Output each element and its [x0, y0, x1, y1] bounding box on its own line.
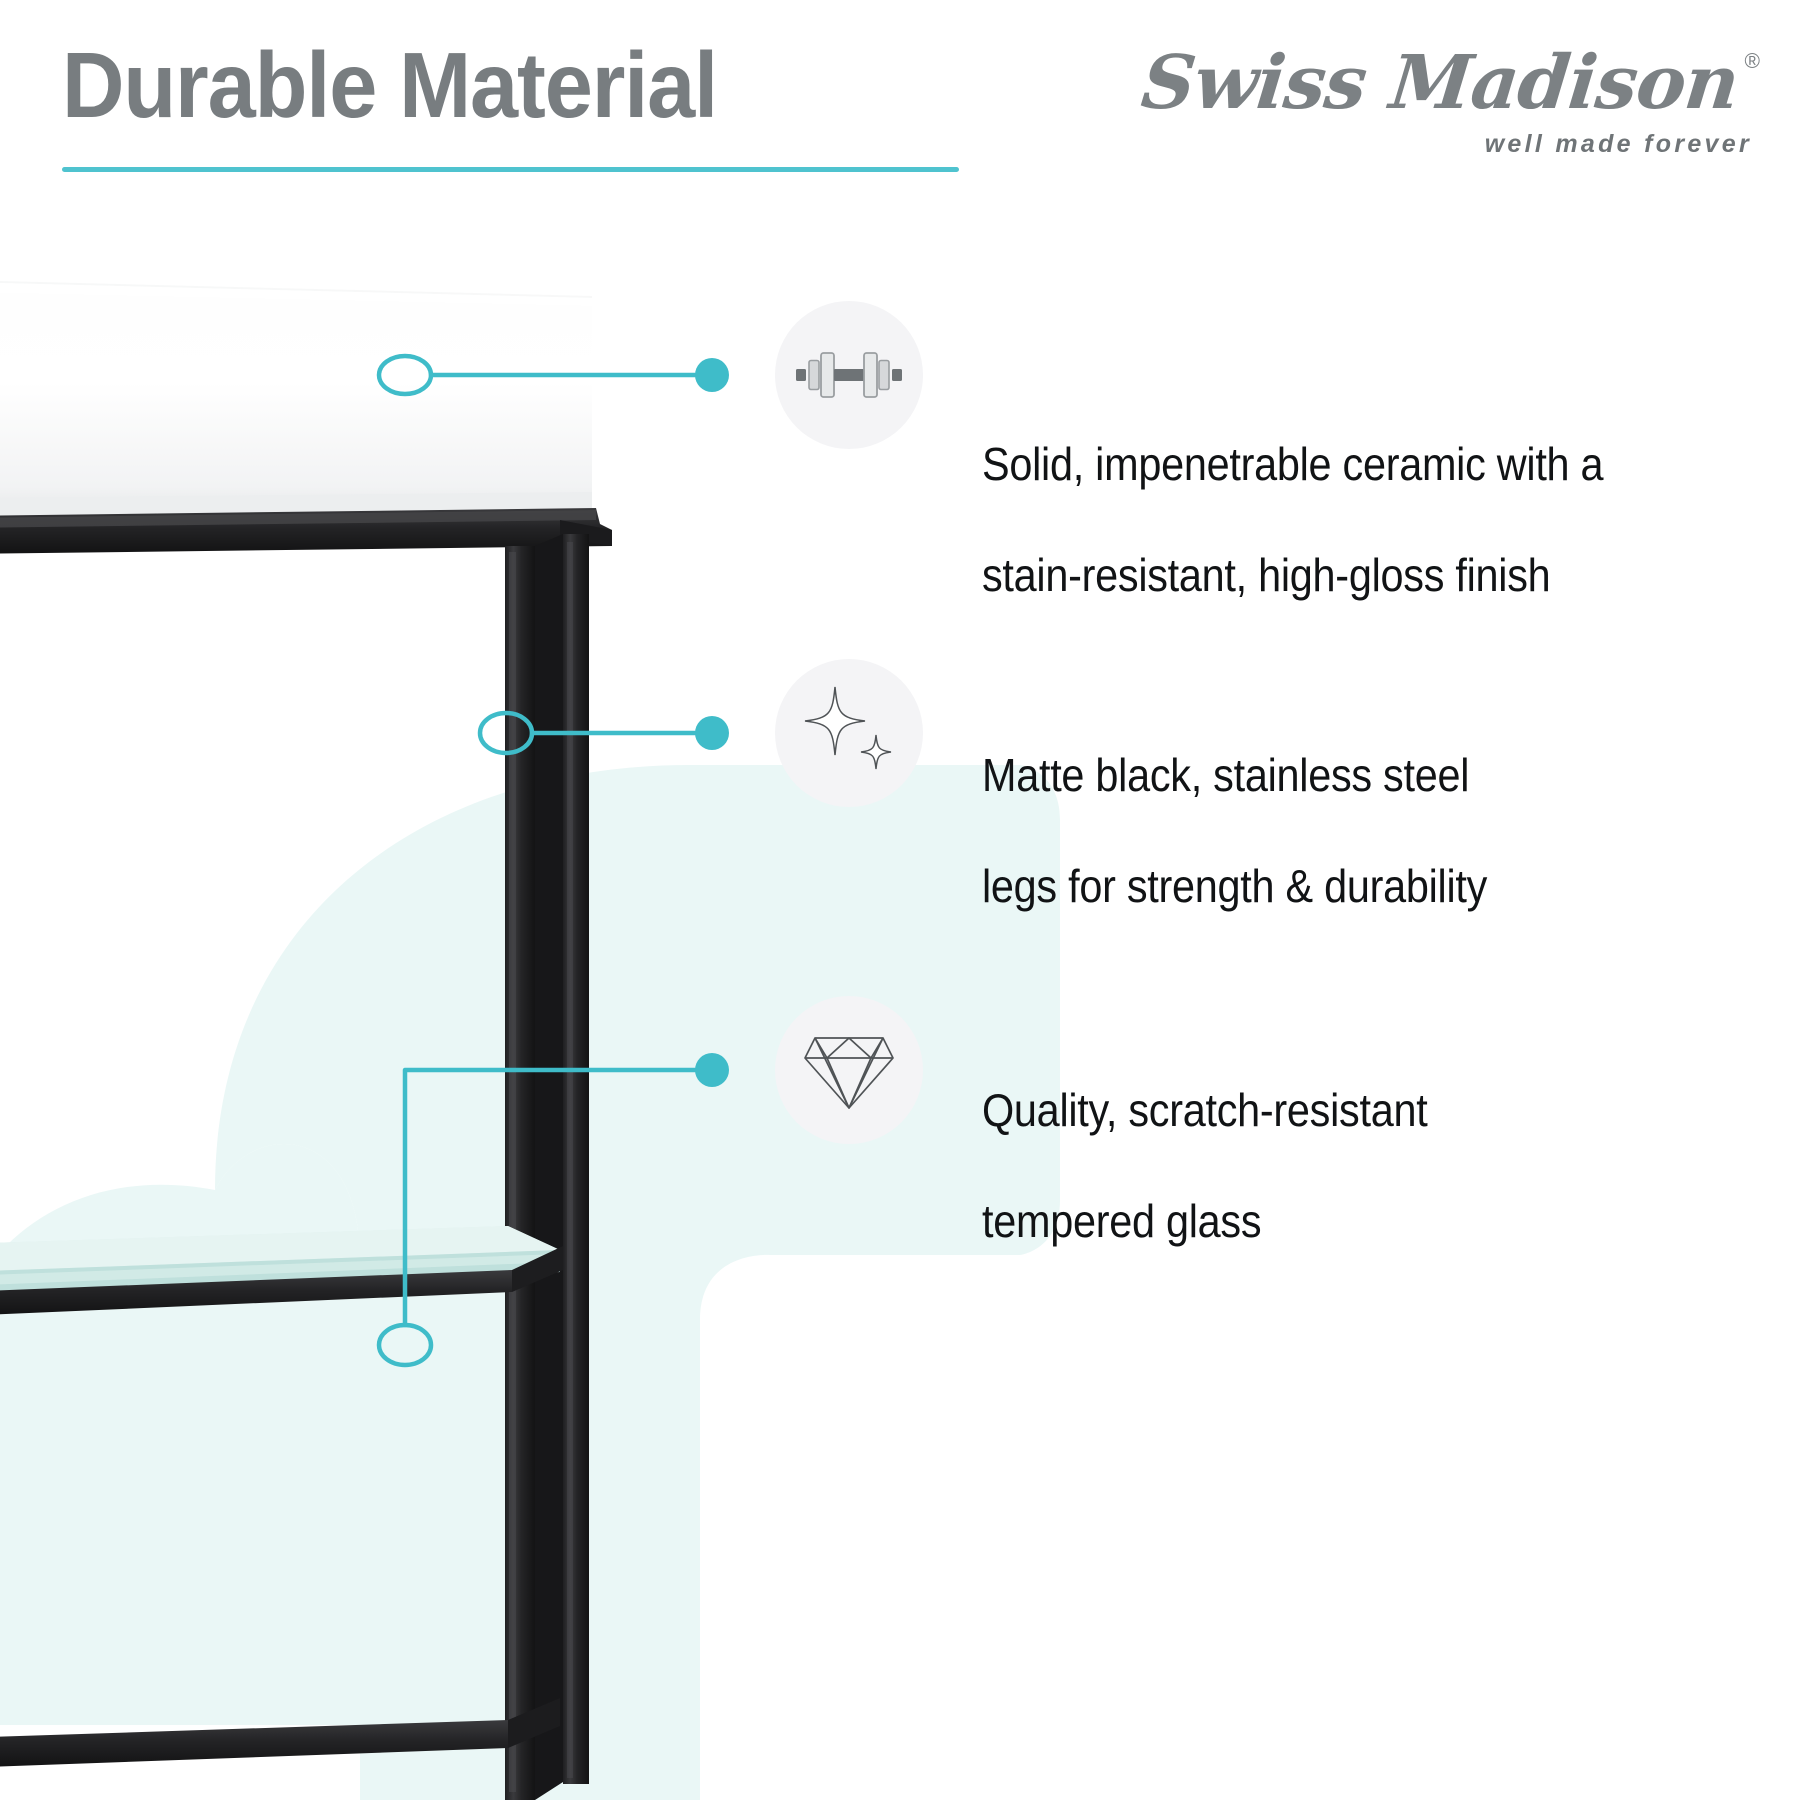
brand-logo-wordmark: Swiss Madison [1138, 46, 1742, 120]
feature-text-legs-line1: Matte black, stainless steel [982, 748, 1800, 803]
brand-logo: Swiss Madison ® well made forever [1234, 44, 1764, 164]
brand-logo-tagline: well made forever [1485, 130, 1752, 159]
leader-dot-2 [695, 716, 729, 750]
title-underline-rule [62, 167, 959, 172]
feature-text-ceramic: Solid, impenetrable ceramic with a stain… [982, 382, 1800, 658]
leader-dot-1 [695, 358, 729, 392]
infographic-canvas: Durable Material Swiss Madison ® well ma… [0, 0, 1800, 1800]
feature-icon-badge-ceramic [775, 301, 923, 449]
feature-icon-badge-legs [775, 659, 923, 807]
page-title: Durable Material [62, 36, 717, 135]
feature-text-glass: Quality, scratch-resistant tempered glas… [982, 1028, 1800, 1304]
feature-text-legs-line2: legs for strength & durability [982, 859, 1800, 914]
leader-dot-3 [695, 1053, 729, 1087]
dumbbell-icon [793, 319, 905, 431]
feature-icon-badge-glass [775, 996, 923, 1144]
feature-text-ceramic-line2: stain-resistant, high-gloss finish [982, 548, 1800, 603]
feature-text-glass-line2: tempered glass [982, 1194, 1800, 1249]
diamond-icon [793, 1014, 905, 1126]
registered-trademark-icon: ® [1745, 50, 1760, 74]
product-image-console-vanity [0, 262, 660, 1800]
sparkle-star-icon [793, 677, 905, 789]
feature-text-legs: Matte black, stainless steel legs for st… [982, 693, 1800, 969]
feature-text-ceramic-line1: Solid, impenetrable ceramic with a [982, 437, 1800, 492]
feature-text-glass-line1: Quality, scratch-resistant [982, 1083, 1800, 1138]
